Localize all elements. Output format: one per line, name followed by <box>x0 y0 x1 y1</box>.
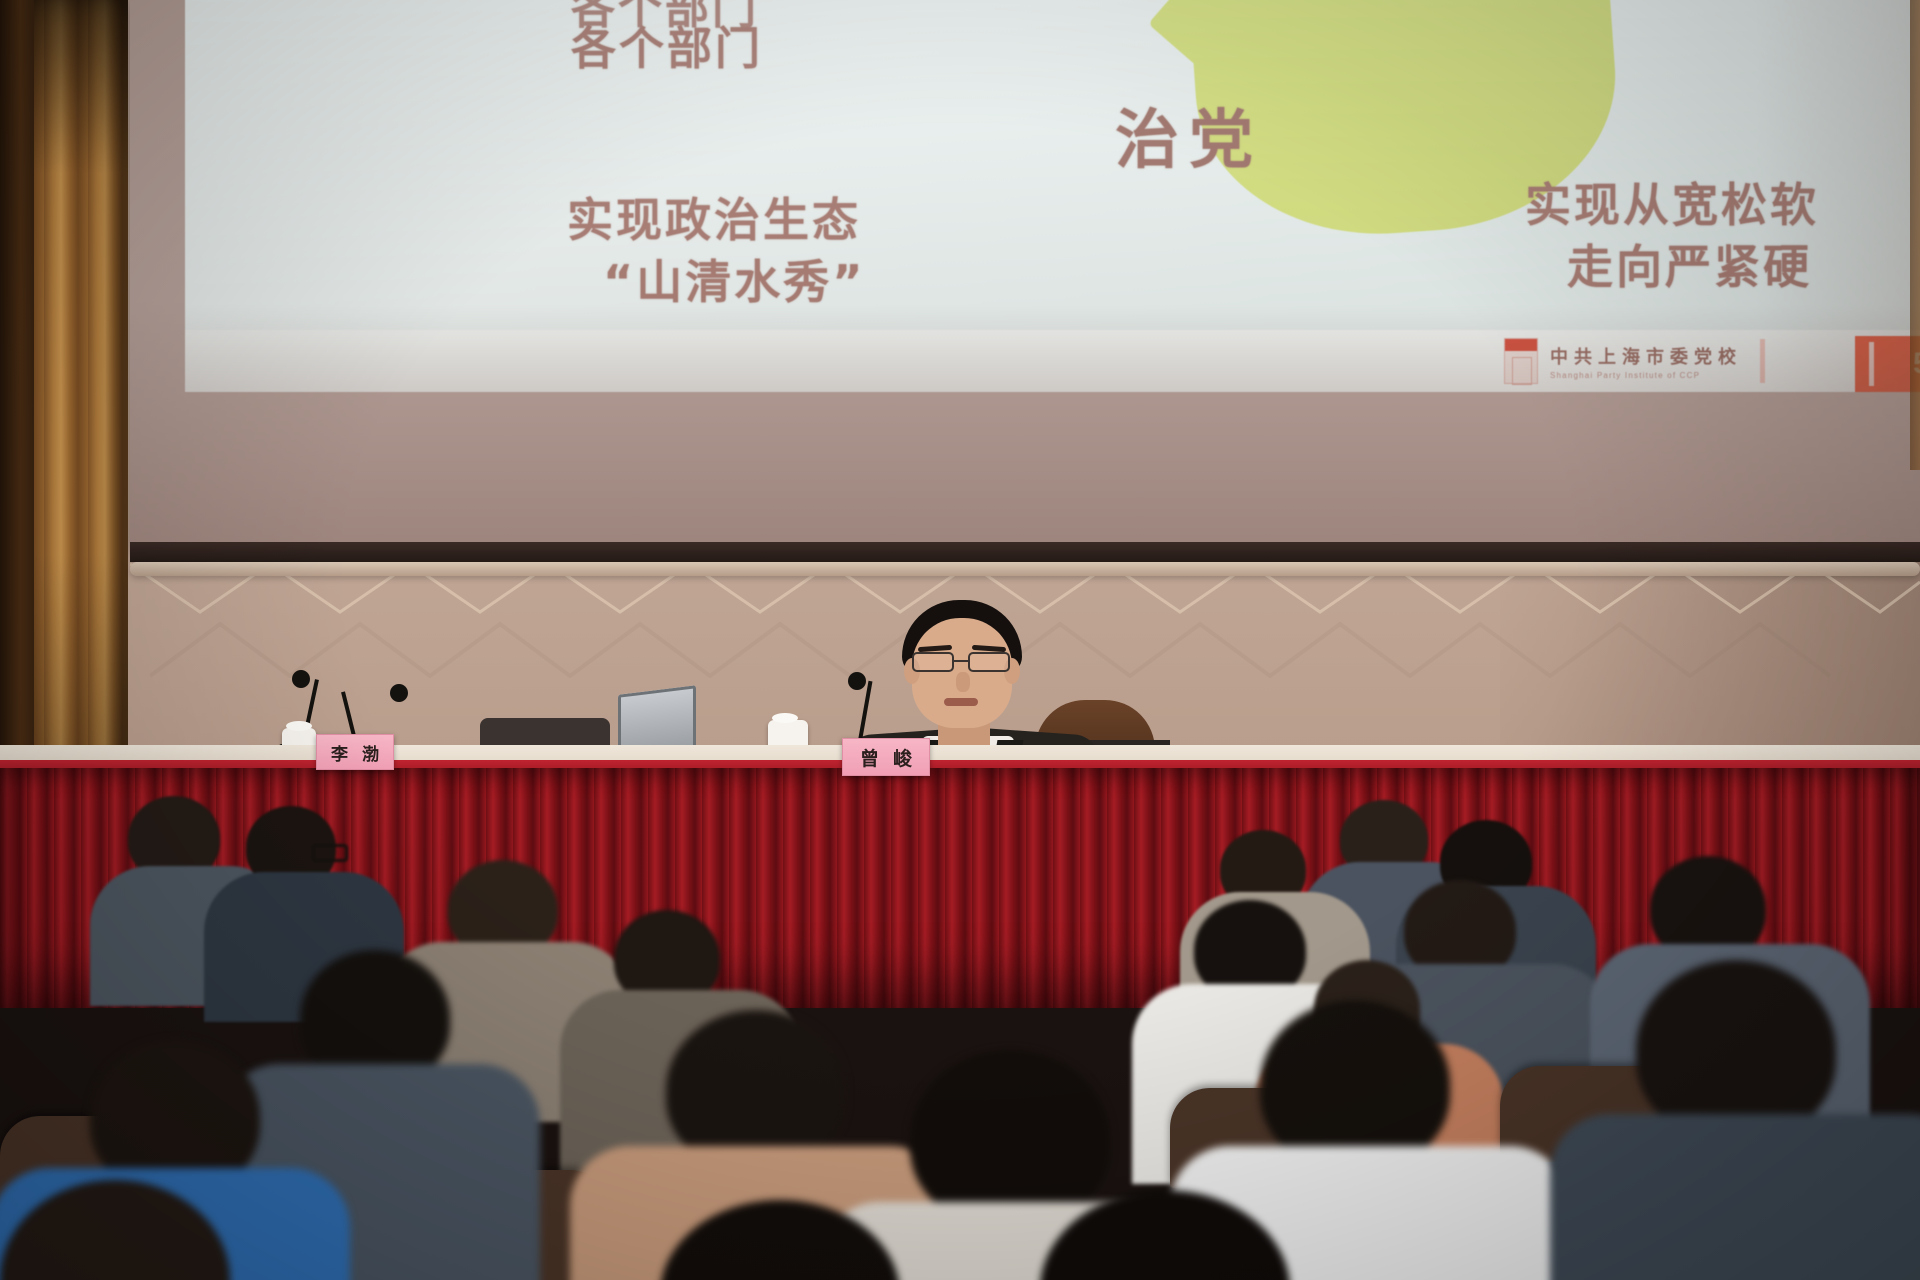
projection-screen: 各个部门 各个部门 实现政治生态 “山清水秀” 实现从宽松软 走向严紧硬 治党 … <box>130 0 1920 550</box>
stage-curtain-right <box>1910 0 1920 470</box>
slide-footer: 中共上海市委党校 Shanghai Party Institute of CCP… <box>185 330 1920 392</box>
slide-text-left-line2: “山清水秀” <box>603 246 865 312</box>
microphone-3-head <box>848 672 866 690</box>
wall-rail <box>130 562 1920 576</box>
speaker-mouth <box>944 698 978 706</box>
stage-curtain-left-edge <box>0 0 34 790</box>
eyeglasses-icon <box>312 844 348 862</box>
conference-hall-scene: 各个部门 各个部门 实现政治生态 “山清水秀” 实现从宽松软 走向严紧硬 治党 … <box>0 0 1920 1280</box>
speaker-nose <box>956 672 970 692</box>
institute-emblem-icon <box>1504 338 1538 384</box>
microphone-1-head <box>292 670 310 688</box>
institute-name-en: Shanghai Party Institute of CCP <box>1550 371 1742 380</box>
institute-logo: 中共上海市委党校 Shanghai Party Institute of CCP <box>1504 338 1765 384</box>
institute-logo-text: 中共上海市委党校 Shanghai Party Institute of CCP <box>1550 343 1742 380</box>
slide-center-label: 治党 <box>1115 89 1263 181</box>
screen-bottom-bar <box>130 542 1920 562</box>
institute-name-cn: 中共上海市委党校 <box>1550 343 1742 369</box>
microphone-2-head <box>390 684 408 702</box>
slide-edge-shadow <box>1755 0 1920 392</box>
audience-area <box>0 760 1920 1280</box>
projected-slide: 各个部门 各个部门 实现政治生态 “山清水秀” 实现从宽松软 走向严紧硬 治党 … <box>185 0 1920 392</box>
slide-text-top: 各个部门 <box>571 12 763 77</box>
slide-text-left-line1: 实现政治生态 <box>567 184 861 250</box>
glasses-icon <box>910 652 1016 672</box>
